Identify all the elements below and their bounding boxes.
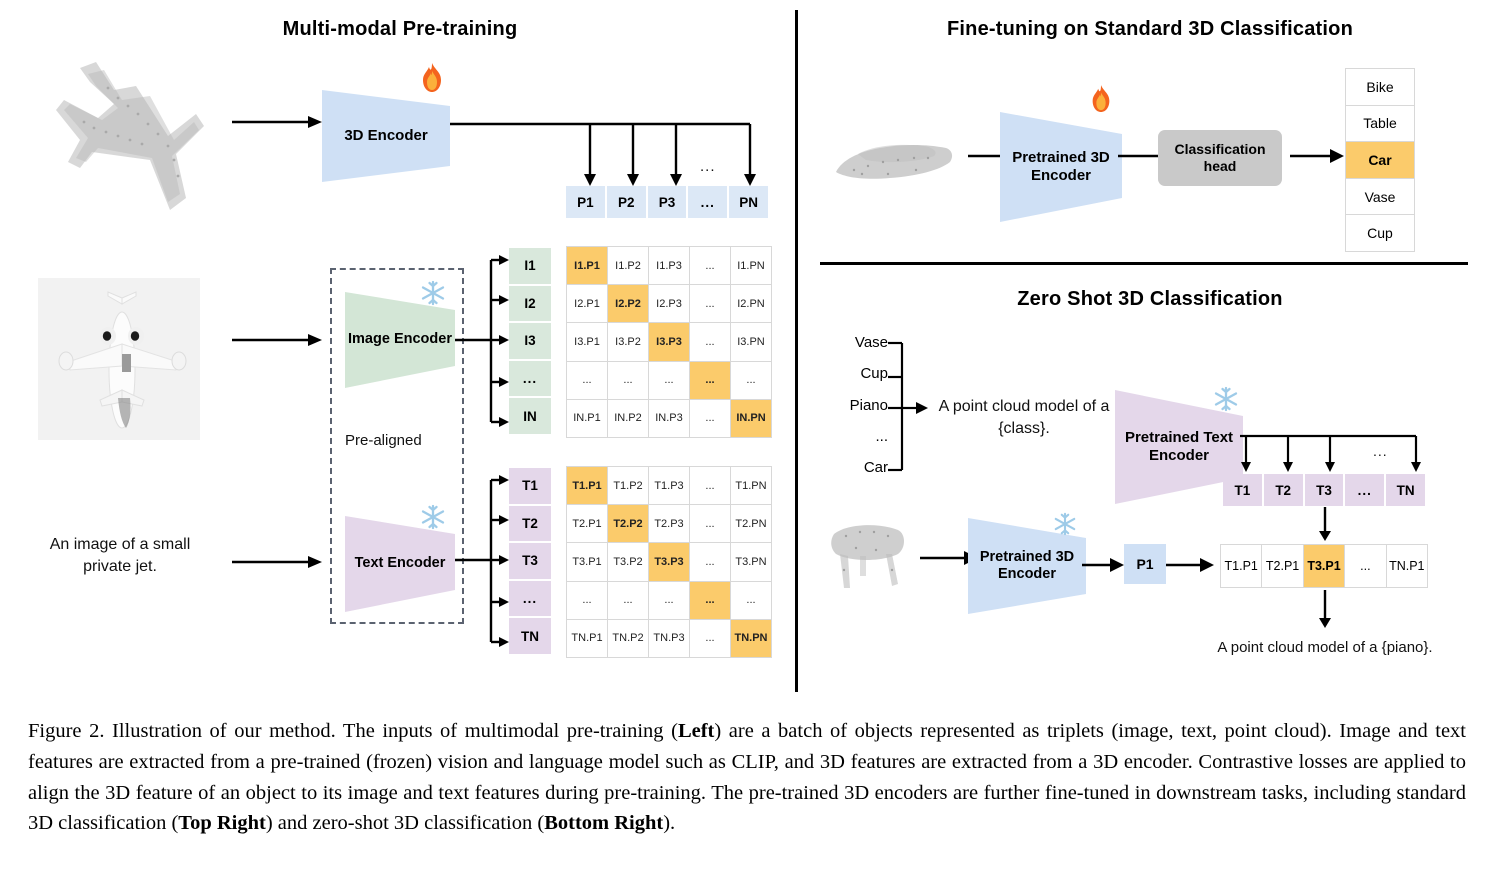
text-similarity-cell[interactable]: TN.P3 bbox=[649, 620, 689, 657]
text-encoder[interactable]: Text Encoder bbox=[345, 516, 455, 612]
text-similarity-cell[interactable]: ... bbox=[690, 582, 730, 619]
t-row-strip: T1 T2 T3 ... TN bbox=[1223, 474, 1425, 506]
text-similarity-cell[interactable]: T1.P3 bbox=[649, 467, 689, 504]
caption-emphasis: Left bbox=[678, 720, 714, 742]
text-encoder-label: Text Encoder bbox=[355, 555, 446, 572]
text-similarity-cell[interactable]: T3.P3 bbox=[649, 543, 689, 580]
private-jet-render bbox=[38, 278, 200, 440]
text-similarity-cell[interactable]: T1.P2 bbox=[608, 467, 648, 504]
t-cell[interactable]: T2 bbox=[509, 506, 551, 542]
image-similarity-cell[interactable]: I2.P2 bbox=[608, 285, 648, 322]
image-similarity-cell[interactable]: IN.P2 bbox=[608, 400, 648, 437]
similarity-score-row: T1.P1T2.P1T3.P1...TN.P1 bbox=[1220, 544, 1428, 588]
image-similarity-cell[interactable]: ... bbox=[567, 362, 607, 399]
p-cell[interactable]: ... bbox=[688, 186, 727, 218]
airplane-point-cloud bbox=[18, 48, 238, 228]
i-column-strip: I1 I2 I3 ... IN bbox=[509, 248, 551, 434]
snowflake-icon bbox=[1053, 512, 1077, 536]
t-column-strip: T1 T2 T3 ... TN bbox=[509, 468, 551, 654]
t-cell[interactable]: T1 bbox=[509, 468, 551, 504]
score-cell[interactable]: TN.P1 bbox=[1387, 545, 1427, 587]
text-similarity-cell[interactable]: ... bbox=[690, 467, 730, 504]
image-similarity-cell[interactable]: I2.P1 bbox=[567, 285, 607, 322]
branch-3d-to-p-row bbox=[450, 118, 770, 192]
class-option[interactable]: Car bbox=[1346, 142, 1414, 178]
snowflake-icon bbox=[420, 280, 446, 306]
text-similarity-cell[interactable]: TN.PN bbox=[731, 620, 771, 657]
image-similarity-cell[interactable]: ... bbox=[731, 362, 771, 399]
image-similarity-cell[interactable]: IN.PN bbox=[731, 400, 771, 437]
zeroshot-class-labels: VaseCupPiano...Car bbox=[826, 334, 888, 476]
text-similarity-cell[interactable]: T2.P1 bbox=[567, 505, 607, 542]
p-cell[interactable]: P1 bbox=[566, 186, 605, 218]
text-similarity-cell[interactable]: T2.PN bbox=[731, 505, 771, 542]
branch-text-encoder-to-t-row bbox=[1240, 432, 1430, 478]
image-similarity-cell[interactable]: I1.P2 bbox=[608, 247, 648, 284]
score-cell[interactable]: T2.P1 bbox=[1262, 545, 1302, 587]
image-similarity-cell[interactable]: IN.P3 bbox=[649, 400, 689, 437]
image-similarity-cell[interactable]: I2.PN bbox=[731, 285, 771, 322]
i-cell[interactable]: I2 bbox=[509, 286, 551, 322]
image-similarity-cell[interactable]: I1.P1 bbox=[567, 247, 607, 284]
encoder-3d-label: 3D Encoder bbox=[344, 127, 427, 145]
bottom-right-panel-title: Zero Shot 3D Classification bbox=[860, 288, 1440, 311]
t-row-cell[interactable]: T1 bbox=[1223, 474, 1262, 506]
t-row-cell[interactable]: TN bbox=[1386, 474, 1425, 506]
image-similarity-cell[interactable]: IN.P1 bbox=[567, 400, 607, 437]
arrow-head-to-classes bbox=[1290, 146, 1346, 166]
car-point-cloud bbox=[828, 130, 958, 192]
branch-image-encoder-to-i-column bbox=[455, 252, 511, 438]
class-option[interactable]: Bike bbox=[1346, 69, 1414, 105]
text-similarity-cell[interactable]: ... bbox=[690, 543, 730, 580]
text-similarity-cell[interactable]: T1.P1 bbox=[567, 467, 607, 504]
image-similarity-cell[interactable]: ... bbox=[690, 323, 730, 360]
t-row-cell[interactable]: T2 bbox=[1264, 474, 1303, 506]
class-option[interactable]: Table bbox=[1346, 106, 1414, 142]
prompt-template: A point cloud model of a {class}. bbox=[928, 396, 1120, 439]
zeroshot-class-label: Cup bbox=[860, 365, 888, 382]
score-cell[interactable]: ... bbox=[1345, 545, 1385, 587]
i-cell[interactable]: I1 bbox=[509, 248, 551, 284]
text-similarity-cell[interactable]: T3.PN bbox=[731, 543, 771, 580]
class-option[interactable]: Vase bbox=[1346, 179, 1414, 215]
text-similarity-cell[interactable]: ... bbox=[731, 582, 771, 619]
p-cell[interactable]: P2 bbox=[607, 186, 646, 218]
pretrained-3d-encoder-label: Pretrained 3D Encoder bbox=[1000, 149, 1122, 184]
arrow-image-to-image-encoder bbox=[232, 330, 324, 350]
caption-emphasis: Bottom Right bbox=[544, 812, 663, 834]
t-cell[interactable]: TN bbox=[509, 618, 551, 654]
text-similarity-cell[interactable]: TN.P1 bbox=[567, 620, 607, 657]
text-similarity-cell[interactable]: ... bbox=[567, 582, 607, 619]
image-similarity-cell[interactable]: I1.PN bbox=[731, 247, 771, 284]
image-similarity-cell[interactable]: I2.P3 bbox=[649, 285, 689, 322]
class-option[interactable]: Cup bbox=[1346, 215, 1414, 251]
zeroshot-class-label: ... bbox=[875, 428, 888, 445]
image-similarity-cell[interactable]: I1.P3 bbox=[649, 247, 689, 284]
image-similarity-cell[interactable]: I3.P3 bbox=[649, 323, 689, 360]
text-similarity-cell[interactable]: T1.PN bbox=[731, 467, 771, 504]
i-cell[interactable]: ... bbox=[509, 361, 551, 397]
t-cell[interactable]: T3 bbox=[509, 543, 551, 579]
pre-aligned-label: Pre-aligned bbox=[345, 432, 422, 449]
classification-head-label: Classification head bbox=[1158, 141, 1282, 175]
p-row-strip: P1 P2 P3 ... PN bbox=[566, 186, 768, 218]
image-encoder[interactable]: Image Encoder bbox=[345, 292, 455, 388]
text-similarity-cell[interactable]: ... bbox=[608, 582, 648, 619]
t-row-cell[interactable]: T3 bbox=[1305, 474, 1344, 506]
text-similarity-cell[interactable]: ... bbox=[690, 505, 730, 542]
arrow-p1-to-scores bbox=[1166, 555, 1216, 575]
t-cell[interactable]: ... bbox=[509, 581, 551, 617]
class-prediction-list: BikeTableCarVaseCup bbox=[1345, 68, 1415, 252]
text-similarity-cell[interactable]: T3.P2 bbox=[608, 543, 648, 580]
encoder-3d[interactable]: 3D Encoder bbox=[322, 90, 450, 182]
image-similarity-cell[interactable]: I3.P2 bbox=[608, 323, 648, 360]
image-similarity-cell[interactable]: I3.PN bbox=[731, 323, 771, 360]
score-cell[interactable]: T1.P1 bbox=[1221, 545, 1261, 587]
figure-caption: Figure 2. Illustration of our method. Th… bbox=[28, 716, 1466, 839]
image-encoder-label: Image Encoder bbox=[348, 331, 452, 348]
arrow-scorerow-to-result bbox=[1316, 590, 1334, 630]
text-similarity-cell[interactable]: ... bbox=[690, 620, 730, 657]
snowflake-icon bbox=[420, 504, 446, 530]
score-cell[interactable]: T3.P1 bbox=[1304, 545, 1344, 587]
image-similarity-cell[interactable]: ... bbox=[690, 362, 730, 399]
text-similarity-cell[interactable]: T2.P2 bbox=[608, 505, 648, 542]
fire-icon bbox=[418, 62, 446, 94]
pretrained-text-encoder-label: Pretrained Text Encoder bbox=[1115, 429, 1243, 464]
snowflake-icon bbox=[1213, 386, 1239, 412]
p1-feature-box[interactable]: P1 bbox=[1124, 544, 1166, 584]
image-point-similarity-matrix: I1.P1I1.P2I1.P3...I1.PNI2.P1I2.P2I2.P3..… bbox=[566, 246, 772, 438]
text-input-caption: An image of a small private jet. bbox=[30, 534, 210, 577]
zeroshot-class-label: Vase bbox=[855, 334, 888, 351]
caption-text: Figure 2. Illustration of our method. Th… bbox=[28, 720, 678, 742]
zeroshot-class-label: Piano bbox=[850, 397, 888, 414]
arrow-pointcloud-to-3d-encoder bbox=[232, 112, 324, 132]
left-panel-title: Multi-modal Pre-training bbox=[160, 18, 640, 41]
image-similarity-cell[interactable]: ... bbox=[690, 247, 730, 284]
i-cell[interactable]: I3 bbox=[509, 323, 551, 359]
classification-head[interactable]: Classification head bbox=[1158, 130, 1282, 186]
pretrained-3d-encoder-finetune[interactable]: Pretrained 3D Encoder bbox=[1000, 112, 1122, 222]
piano-point-cloud bbox=[826, 518, 912, 598]
branch-text-encoder-to-t-column bbox=[455, 472, 511, 658]
p-branch-ellipsis: ... bbox=[700, 158, 716, 175]
i-cell[interactable]: IN bbox=[509, 398, 551, 434]
image-similarity-cell[interactable]: I3.P1 bbox=[567, 323, 607, 360]
fire-icon bbox=[1088, 84, 1114, 114]
caption-text: ) and zero-shot 3D classification ( bbox=[266, 812, 544, 834]
p-cell[interactable]: PN bbox=[729, 186, 768, 218]
arrow-trow-to-scorerow bbox=[1316, 507, 1334, 543]
caption-text: ). bbox=[663, 812, 675, 834]
zeroshot-result-text: A point cloud model of a {piano}. bbox=[1175, 638, 1475, 658]
image-similarity-cell[interactable]: ... bbox=[649, 362, 689, 399]
horizontal-divider bbox=[820, 262, 1468, 265]
caption-emphasis: Top Right bbox=[178, 812, 266, 834]
t-branch-ellipsis: ... bbox=[1373, 443, 1388, 459]
zeroshot-class-label: Car bbox=[864, 459, 888, 476]
image-similarity-cell[interactable]: ... bbox=[608, 362, 648, 399]
text-similarity-cell[interactable]: TN.P2 bbox=[608, 620, 648, 657]
text-similarity-cell[interactable]: T3.P1 bbox=[567, 543, 607, 580]
top-right-panel-title: Fine-tuning on Standard 3D Classificatio… bbox=[860, 18, 1440, 41]
image-similarity-cell[interactable]: ... bbox=[690, 285, 730, 322]
text-similarity-cell[interactable]: ... bbox=[649, 582, 689, 619]
figure-root: Multi-modal Pre-training 3D Encoder bbox=[0, 0, 1490, 888]
vertical-divider bbox=[795, 10, 798, 692]
image-similarity-cell[interactable]: ... bbox=[690, 400, 730, 437]
p-cell[interactable]: P3 bbox=[648, 186, 687, 218]
arrow-text-to-text-encoder bbox=[232, 552, 324, 572]
text-similarity-cell[interactable]: T2.P3 bbox=[649, 505, 689, 542]
pretrained-3d-encoder-zs-label: Pretrained 3D Encoder bbox=[968, 549, 1086, 583]
text-point-similarity-matrix: T1.P1T1.P2T1.P3...T1.PNT2.P1T2.P2T2.P3..… bbox=[566, 466, 772, 658]
arrow-encoder-to-p1 bbox=[1082, 555, 1126, 575]
t-row-cell[interactable]: ... bbox=[1345, 474, 1384, 506]
class-list-bracket bbox=[888, 338, 930, 476]
